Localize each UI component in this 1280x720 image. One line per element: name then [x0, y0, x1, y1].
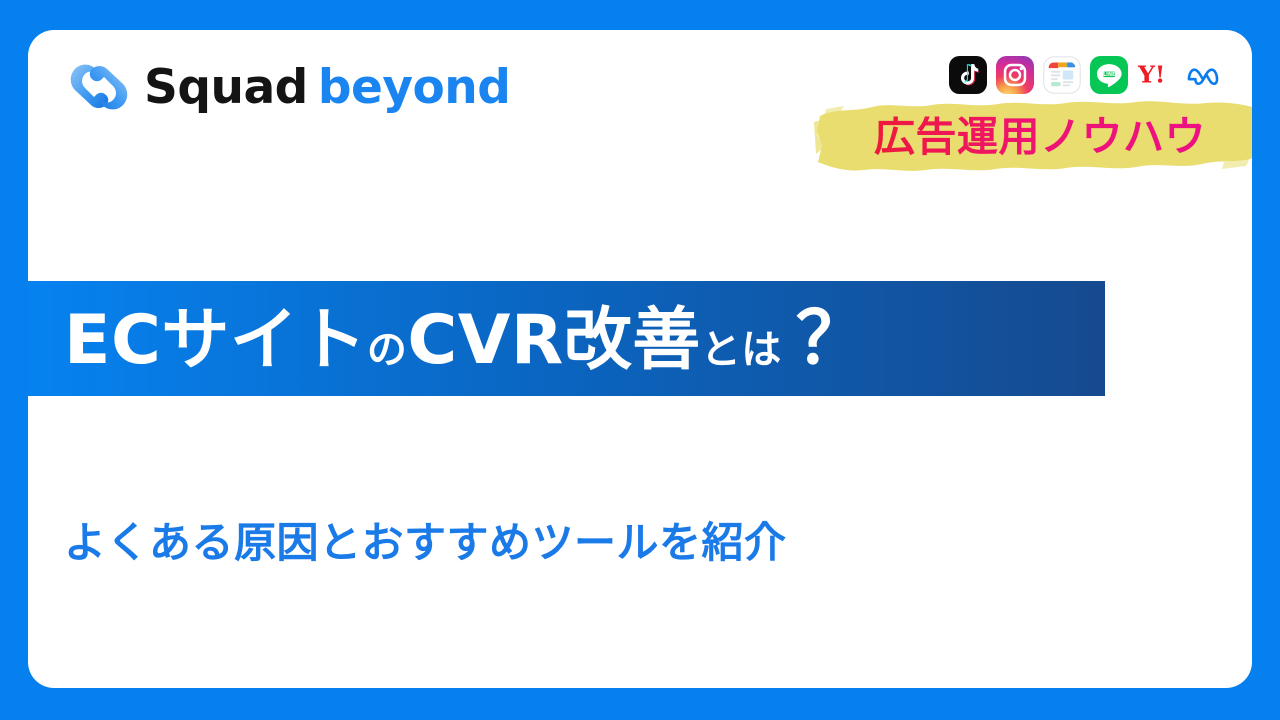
subtitle: よくある原因とおすすめツールを紹介	[64, 522, 787, 564]
instagram-icon	[996, 56, 1034, 94]
main-title-band: EC サイト の CVR 改善 とは ？	[28, 281, 1105, 396]
meta-icon	[1184, 56, 1222, 94]
title-segment-site: サイト	[161, 307, 367, 375]
title-segment-ec: EC	[64, 307, 161, 375]
title-segment-no: の	[367, 330, 408, 370]
social-platform-icon-strip: LINE Y!	[949, 56, 1222, 94]
white-content-card: Squad beyond	[28, 30, 1252, 688]
wordmark-squad: Squad	[144, 64, 308, 111]
brand-wordmark: Squad beyond	[144, 64, 510, 111]
slide-root: Squad beyond	[0, 0, 1280, 720]
tiktok-icon	[949, 56, 987, 94]
title-segment-kaizen: 改善	[564, 307, 701, 375]
squad-beyond-ribbon-logo-icon	[68, 58, 130, 116]
smartnews-icon	[1043, 56, 1081, 94]
title-segment-cvr: CVR	[407, 307, 563, 375]
svg-text:LINE: LINE	[1103, 72, 1115, 78]
yahoo-icon: Y!	[1137, 56, 1175, 94]
title-question-mark: ？	[782, 302, 868, 374]
svg-text:Y!: Y!	[1137, 61, 1165, 89]
wordmark-beyond: beyond	[318, 64, 511, 111]
category-badge-label: 広告運用ノウハウ	[814, 117, 1252, 158]
main-title: EC サイト の CVR 改善 とは ？	[64, 302, 868, 375]
category-badge: 広告運用ノウハウ	[814, 96, 1252, 178]
title-segment-toha: とは	[701, 330, 782, 370]
line-icon: LINE	[1090, 56, 1128, 94]
brand-lockup: Squad beyond	[68, 58, 510, 116]
